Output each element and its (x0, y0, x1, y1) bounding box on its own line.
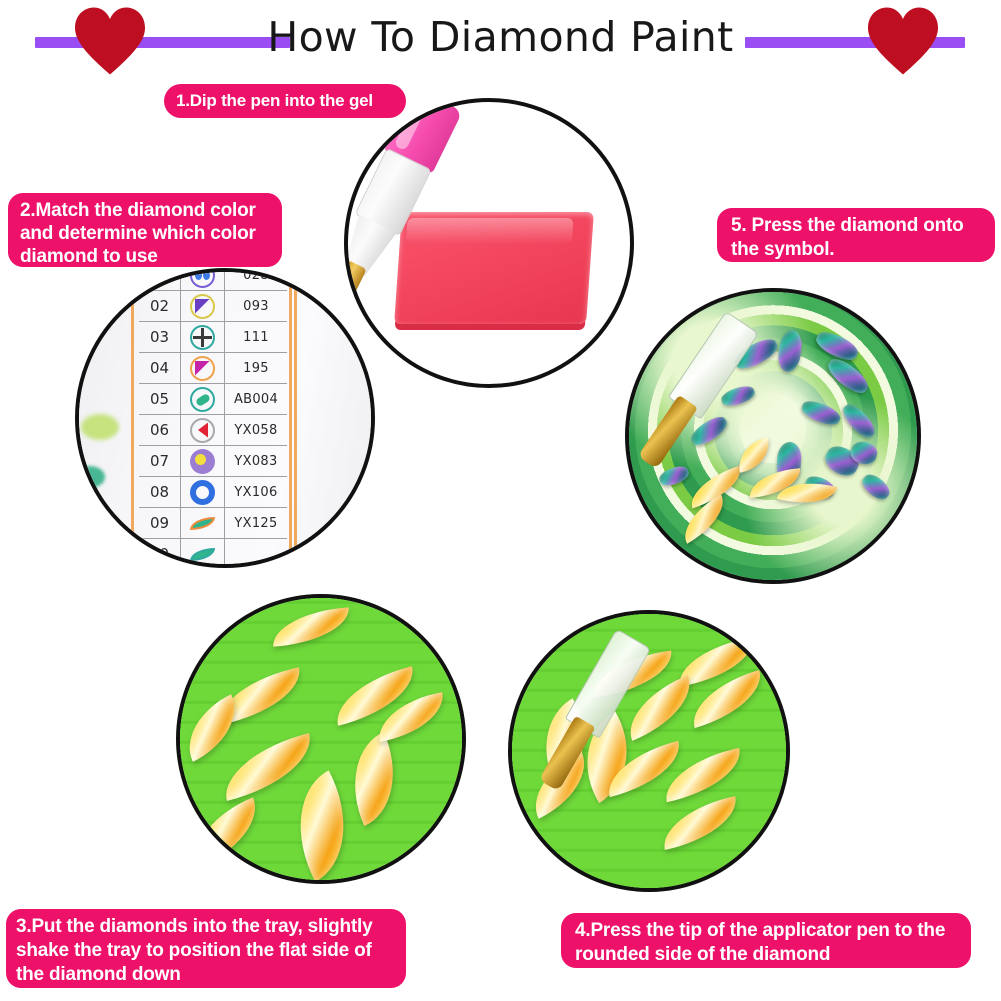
triangle-icon (190, 294, 215, 319)
chart-margin-line (131, 268, 134, 568)
chart-row-symbol (181, 322, 225, 352)
chart-row-id: 10 (139, 539, 181, 568)
color-chart-row: 08YX106 (139, 477, 287, 508)
chart-row-code: AB004 (225, 392, 287, 407)
ring-icon (190, 480, 215, 505)
chart-row-code: 028 (225, 268, 287, 283)
chart-row-id: 04 (139, 353, 181, 383)
chart-row-id: 08 (139, 477, 181, 507)
color-chart-row: 10 (139, 539, 287, 568)
chart-row-symbol (181, 291, 225, 321)
step-5-label: 5. Press the diamond onto the symbol. (717, 208, 995, 262)
chart-margin-line (294, 268, 297, 568)
step-2-photo: 01 02802 09303 11104 19505 AB00406 YX058… (75, 268, 375, 568)
chart-smudge (75, 466, 105, 488)
chart-row-id: 09 (139, 508, 181, 538)
gel-pad (394, 212, 594, 324)
step-3-label: 3.Put the diamonds into the tray, slight… (6, 909, 406, 988)
step-3-photo (176, 594, 466, 884)
color-chart-row: 01 028 (139, 268, 287, 291)
color-chart-row: 05 AB004 (139, 384, 287, 415)
color-chart-row: 03 111 (139, 322, 287, 353)
step-5-photo (625, 288, 921, 584)
chevron-left-icon (190, 418, 215, 443)
step-1-photo (344, 98, 634, 388)
header: How To Diamond Paint (0, 0, 1001, 78)
filled-disc-icon (190, 449, 215, 474)
step-4-photo (508, 610, 790, 892)
triangle-icon (190, 356, 215, 381)
chart-row-symbol (181, 353, 225, 383)
chart-margin-line (289, 268, 292, 568)
page-title: How To Diamond Paint (0, 12, 1001, 62)
chart-row-symbol (181, 508, 225, 538)
chart-row-code: YX106 (225, 485, 287, 500)
chart-row-id: 03 (139, 322, 181, 352)
infographic-page: How To Diamond Paint 1.Dip the pen into … (0, 0, 1001, 1001)
chart-row-code: 195 (225, 361, 287, 376)
chart-row-symbol (181, 415, 225, 445)
color-chart-row: 09 YX125 (139, 508, 287, 539)
leaf-icon (190, 511, 215, 536)
chart-row-id: 06 (139, 415, 181, 445)
chart-row-id: 07 (139, 446, 181, 476)
chart-row-symbol (181, 446, 225, 476)
chart-row-symbol (181, 539, 225, 568)
step-2-label: 2.Match the diamond color and determine … (8, 193, 282, 267)
chart-row-code: YX058 (225, 423, 287, 438)
chart-row-id: 02 (139, 291, 181, 321)
step-4-label: 4.Press the tip of the applicator pen to… (561, 913, 971, 968)
color-chart-row: 06 YX058 (139, 415, 287, 446)
chart-row-id: 01 (139, 268, 181, 290)
chart-row-code: YX125 (225, 516, 287, 531)
plus-cross-icon (190, 325, 215, 350)
chart-row-code: 093 (225, 299, 287, 314)
color-chart-row: 07 YX083 (139, 446, 287, 477)
pill-icon (190, 387, 215, 412)
chart-row-symbol (181, 268, 225, 290)
double-dot-icon (190, 268, 215, 288)
chart-row-symbol (181, 384, 225, 414)
chart-row-code: YX083 (225, 454, 287, 469)
chart-row-symbol (181, 477, 225, 507)
chart-smudge (81, 414, 119, 440)
leaf-icon (190, 542, 215, 567)
chart-row-id: 05 (139, 384, 181, 414)
chart-row-code: 111 (225, 330, 287, 345)
color-chart-row: 04 195 (139, 353, 287, 384)
color-chart-table: 01 02802 09303 11104 19505 AB00406 YX058… (139, 268, 287, 568)
chart-sheet: 01 02802 09303 11104 19505 AB00406 YX058… (75, 268, 375, 568)
color-chart-row: 02 093 (139, 291, 287, 322)
